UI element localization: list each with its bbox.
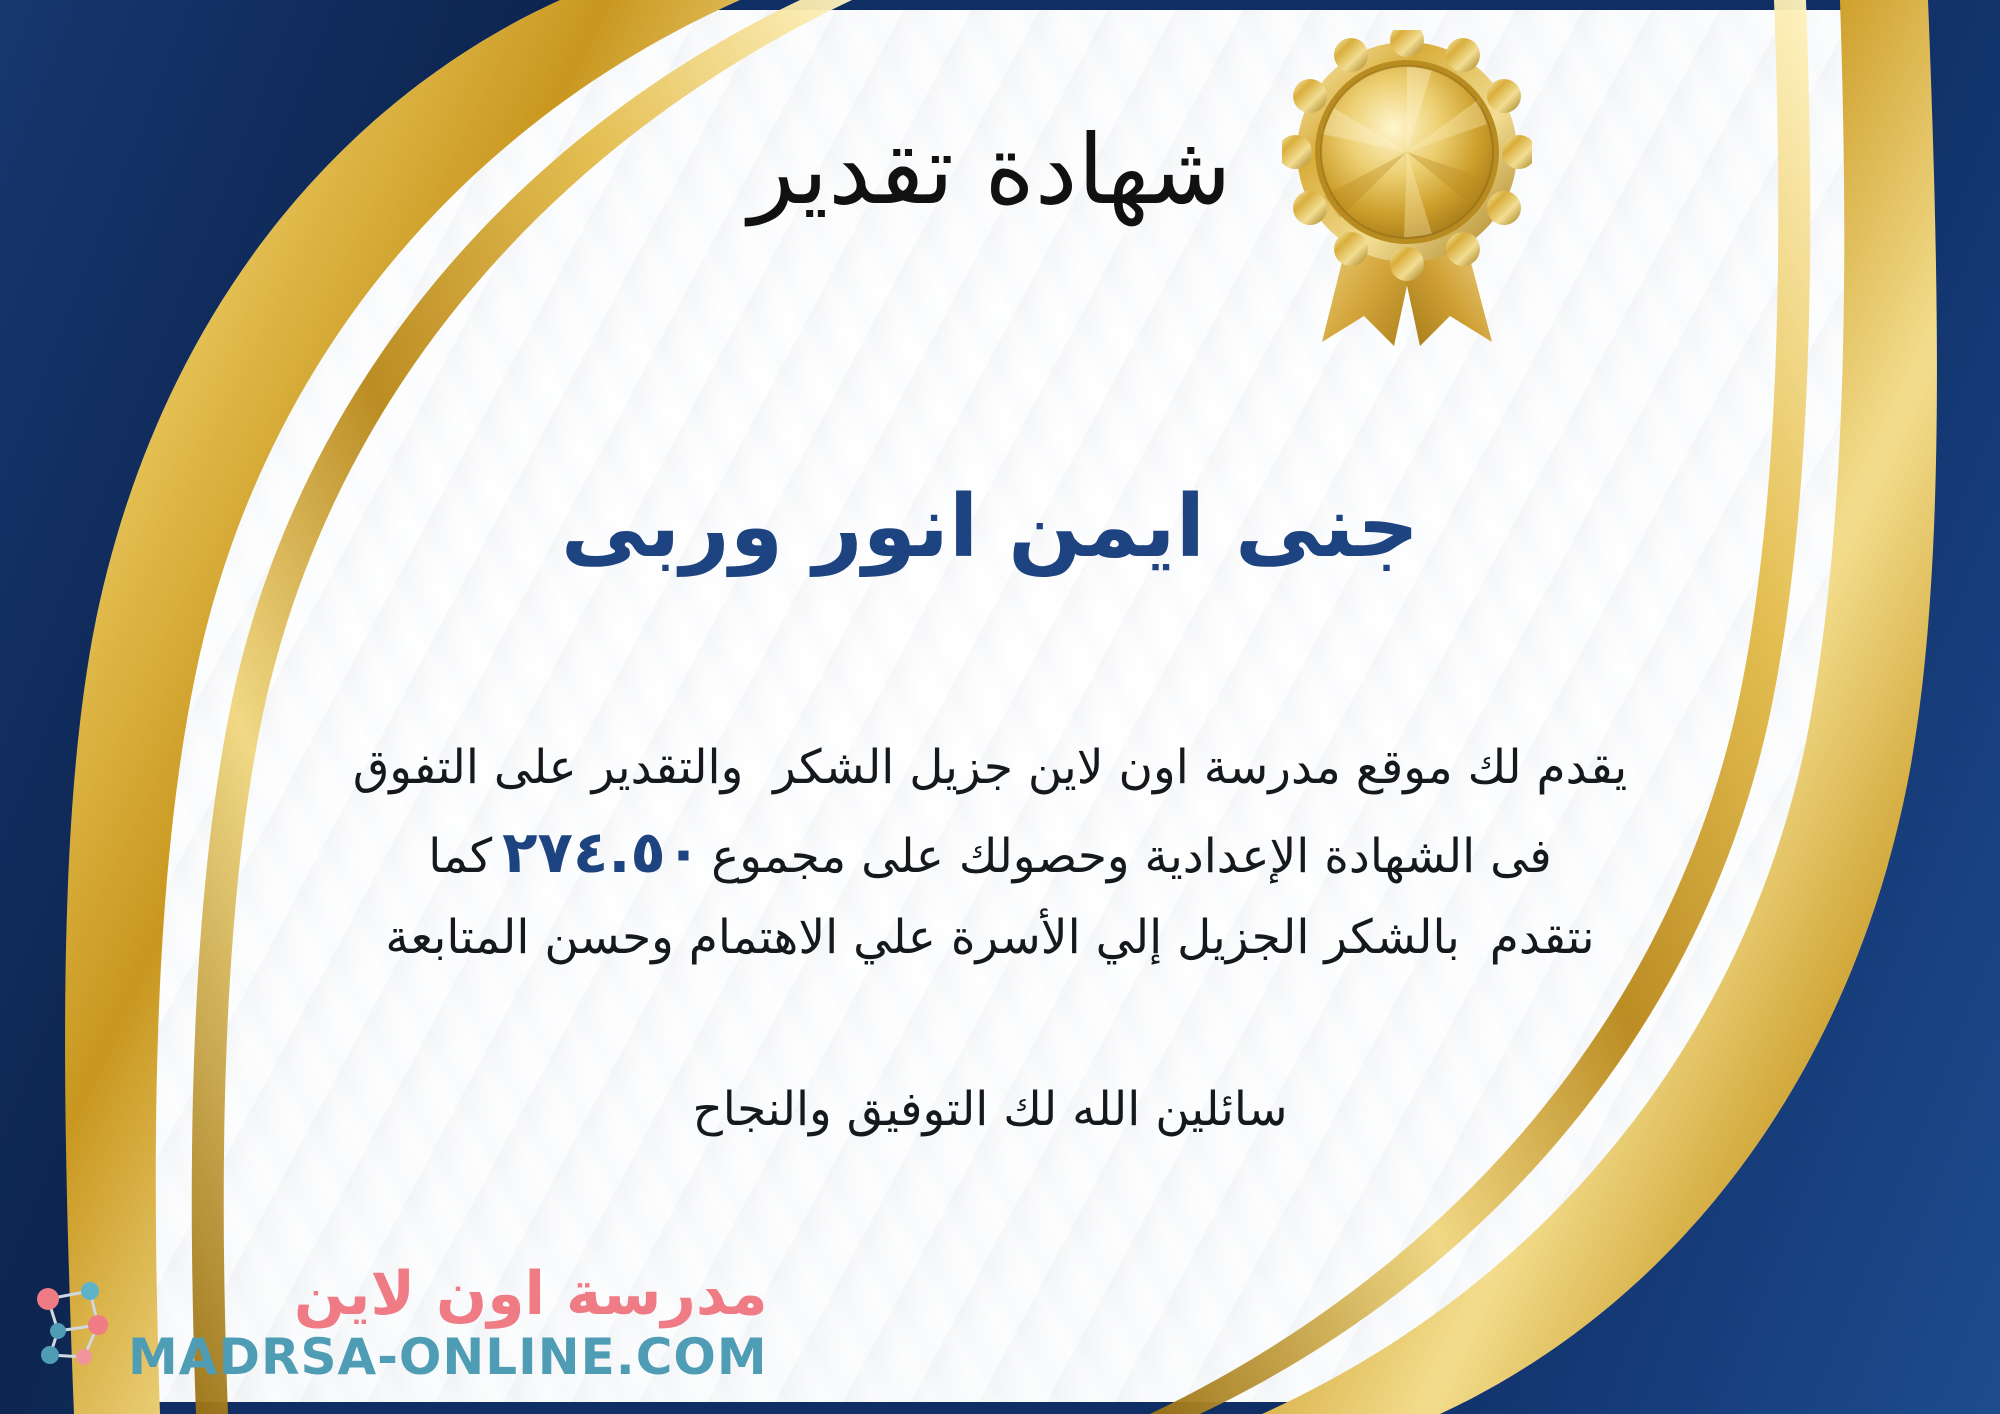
- logo-node-pink-2: [88, 1315, 108, 1335]
- body-line-3: نتقدم بالشكر الجزيل إلي الأسرة علي الاهت…: [130, 900, 1850, 976]
- certificate-body: يقدم لك موقع مدرسة اون لاين جزيل الشكر و…: [130, 730, 1850, 976]
- brand-logo[interactable]: مدرسة اون لاين MADRSA-ONLINE.COM: [28, 1264, 768, 1382]
- body-line-2-suffix: كما: [428, 829, 492, 884]
- certificate-content: شهادة تقدير جنى ايمن انور وربى يقدم لك م…: [130, 0, 1850, 1414]
- logo-node-teal-2: [50, 1323, 66, 1339]
- body-line-1: يقدم لك موقع مدرسة اون لاين جزيل الشكر و…: [130, 730, 1850, 806]
- body-line-2: فى الشهادة الإعدادية وحصولك على مجموع٢٧٤…: [130, 806, 1850, 900]
- logo-node-teal-1: [81, 1282, 99, 1300]
- certificate-title: شهادة تقدير: [130, 118, 1850, 224]
- recipient-name: جنى ايمن انور وربى: [130, 478, 1850, 577]
- logo-node-pink-1: [37, 1288, 59, 1310]
- certificate-canvas: شهادة تقدير جنى ايمن انور وربى يقدم لك م…: [0, 0, 2000, 1414]
- body-line-2-prefix: فى الشهادة الإعدادية وحصولك على مجموع: [711, 829, 1552, 884]
- closing-wish-line: سائلين الله لك التوفيق والنجاح: [130, 1075, 1850, 1146]
- brand-website-url: MADRSA-ONLINE.COM: [128, 1332, 768, 1382]
- brand-text-block: مدرسة اون لاين MADRSA-ONLINE.COM: [128, 1264, 768, 1382]
- logo-node-teal-3: [41, 1346, 59, 1364]
- total-score-value: ٢٧٤.٥٠: [492, 818, 711, 886]
- frame-border-right: [1888, 0, 2000, 1414]
- network-nodes-logo-icon: [28, 1277, 114, 1369]
- logo-node-pink-3: [76, 1349, 92, 1365]
- brand-arabic-name: مدرسة اون لاين: [128, 1264, 768, 1324]
- frame-border-left: [0, 0, 96, 1414]
